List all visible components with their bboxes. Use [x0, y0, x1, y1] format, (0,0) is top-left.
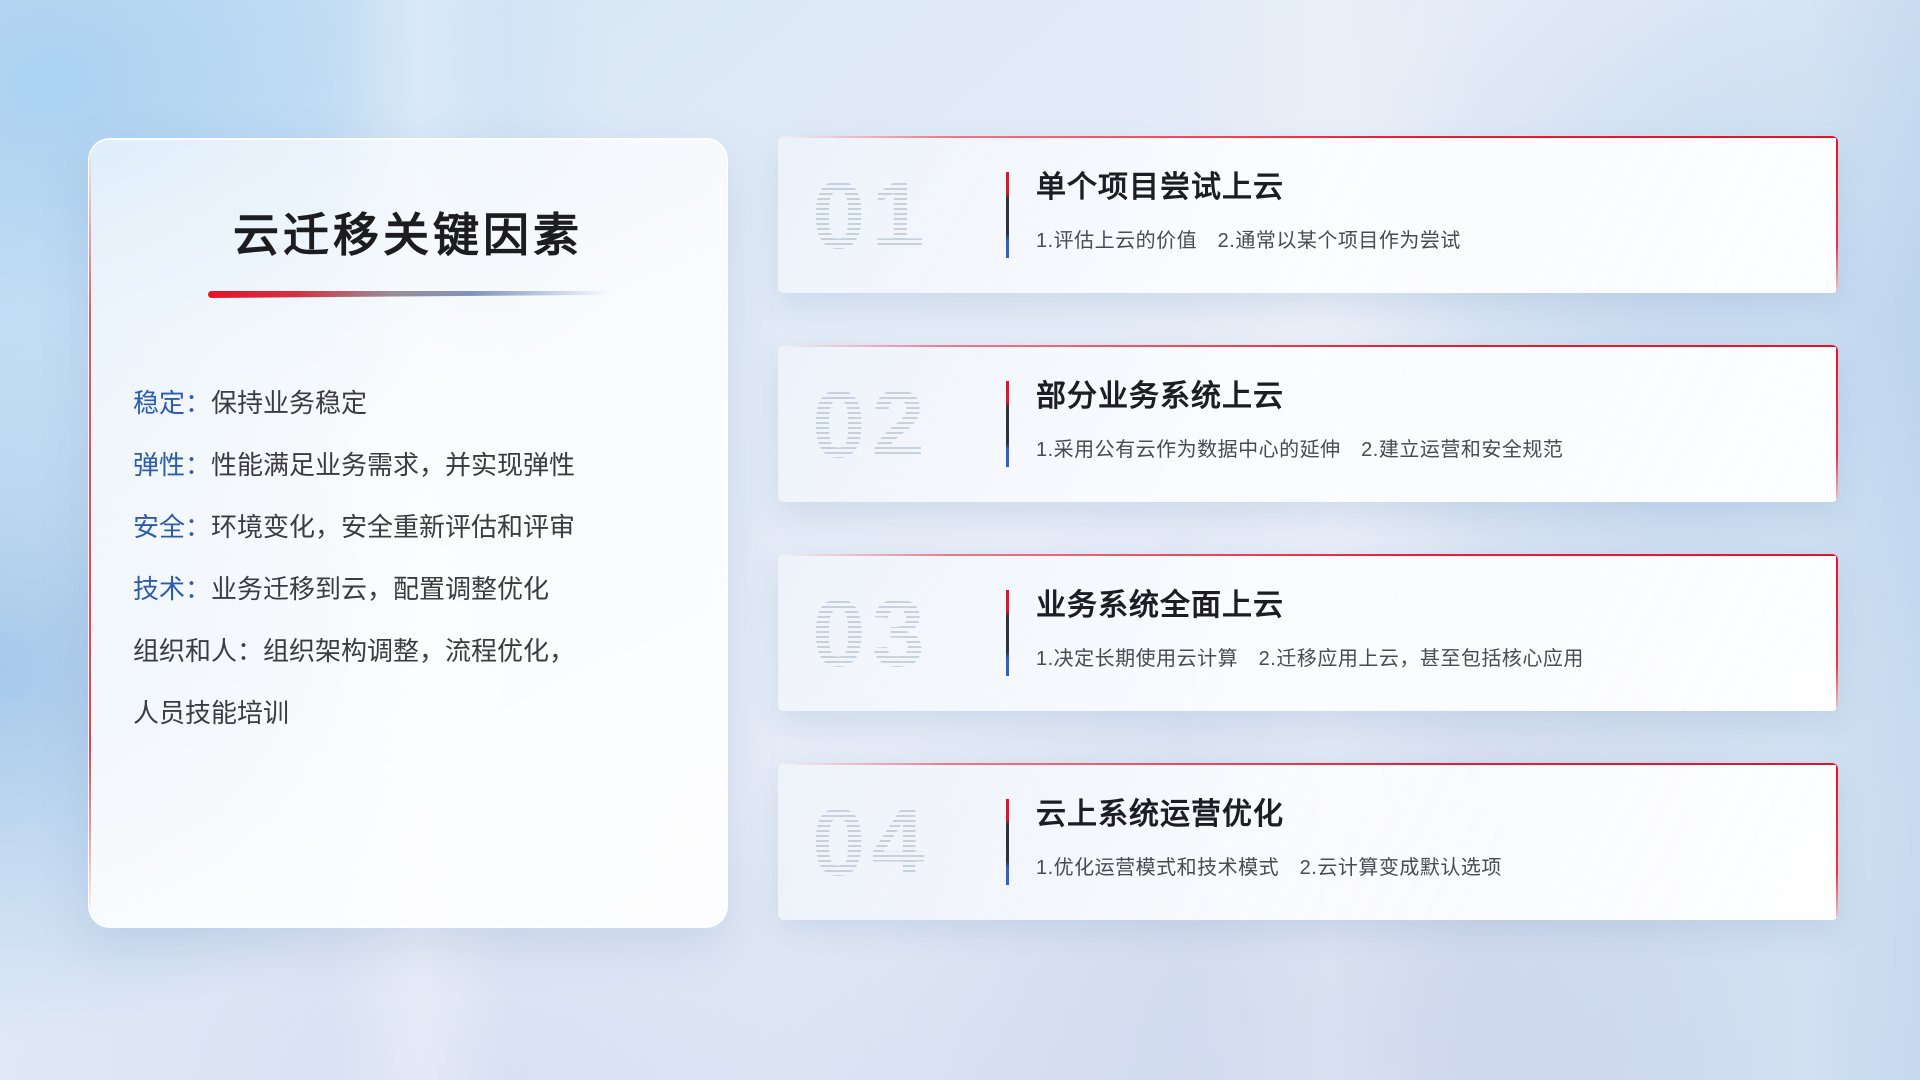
list-item-value: 性能满足业务需求，并实现弹性: [211, 450, 575, 480]
stage-number: 02: [812, 367, 992, 483]
stage-number: 01: [812, 158, 992, 274]
stage-number: 03: [812, 576, 992, 692]
page-title: 云迁移关键因素: [89, 199, 727, 265]
stage-subtitle: 1.采用公有云作为数据中心的延伸 2.建立运营和安全规范: [1036, 433, 1798, 462]
list-item-value: 组织架构调整，流程优化，: [263, 636, 575, 666]
list-item-value: 保持业务稳定: [211, 388, 367, 418]
list-item-key: 安全：: [133, 512, 211, 542]
stage-title: 单个项目尝试上云: [1036, 162, 1798, 206]
stage-card[interactable]: 01 单个项目尝试上云 1.评估上云的价值 2.通常以某个项目作为尝试: [778, 136, 1838, 293]
accent-bar: [1006, 590, 1009, 676]
stage-card-text: 业务系统全面上云 1.决定长期使用云计算 2.迁移应用上云，甚至包括核心应用: [1036, 580, 1798, 671]
list-item-value: 人员技能培训: [133, 698, 289, 728]
stage-number: 04: [812, 785, 992, 901]
list-item-key: 技术：: [133, 574, 211, 604]
list-item-value: 环境变化，安全重新评估和评审: [211, 512, 575, 542]
list-item: 技术：业务迁移到云，配置调整优化: [133, 558, 687, 620]
accent-bar: [1006, 172, 1009, 258]
list-item: 稳定：保持业务稳定: [133, 372, 687, 434]
list-item-key: 弹性：: [133, 450, 211, 480]
list-item-key: 组织和人：: [133, 636, 263, 666]
stage-cards: 01 单个项目尝试上云 1.评估上云的价值 2.通常以某个项目作为尝试 02 部…: [778, 136, 1838, 972]
accent-bar: [1006, 799, 1009, 885]
stage-card-text: 云上系统运营优化 1.优化运营模式和技术模式 2.云计算变成默认选项: [1036, 789, 1798, 880]
list-item: 组织和人：组织架构调整，流程优化，: [133, 620, 687, 682]
stage-card[interactable]: 03 业务系统全面上云 1.决定长期使用云计算 2.迁移应用上云，甚至包括核心应…: [778, 554, 1838, 711]
stage-card-text: 部分业务系统上云 1.采用公有云作为数据中心的延伸 2.建立运营和安全规范: [1036, 371, 1798, 462]
stage-card-text: 单个项目尝试上云 1.评估上云的价值 2.通常以某个项目作为尝试: [1036, 162, 1798, 253]
stage-card[interactable]: 04 云上系统运营优化 1.优化运营模式和技术模式 2.云计算变成默认选项: [778, 763, 1838, 920]
key-factors-list: 稳定：保持业务稳定 弹性：性能满足业务需求，并实现弹性 安全：环境变化，安全重新…: [89, 372, 727, 744]
list-item-value: 业务迁移到云，配置调整优化: [211, 574, 549, 604]
stage-card[interactable]: 02 部分业务系统上云 1.采用公有云作为数据中心的延伸 2.建立运营和安全规范: [778, 345, 1838, 502]
list-item: 安全：环境变化，安全重新评估和评审: [133, 496, 687, 558]
key-factors-panel: 云迁移关键因素 稳定：保持业务稳定 弹性：性能满足业务需求，并实现弹性 安全：环…: [88, 138, 728, 928]
list-item: 弹性：性能满足业务需求，并实现弹性: [133, 434, 687, 496]
accent-bar: [1006, 381, 1009, 467]
stage-subtitle: 1.评估上云的价值 2.通常以某个项目作为尝试: [1036, 224, 1798, 253]
stage-title: 部分业务系统上云: [1036, 371, 1798, 415]
stage-title: 业务系统全面上云: [1036, 580, 1798, 624]
list-item-key: 稳定：: [133, 388, 211, 418]
stage-subtitle: 1.优化运营模式和技术模式 2.云计算变成默认选项: [1036, 851, 1798, 880]
title-underline-gradient: [208, 291, 608, 298]
stage-subtitle: 1.决定长期使用云计算 2.迁移应用上云，甚至包括核心应用: [1036, 642, 1798, 671]
stage-title: 云上系统运营优化: [1036, 789, 1798, 833]
list-item-continuation: 人员技能培训: [133, 682, 687, 744]
